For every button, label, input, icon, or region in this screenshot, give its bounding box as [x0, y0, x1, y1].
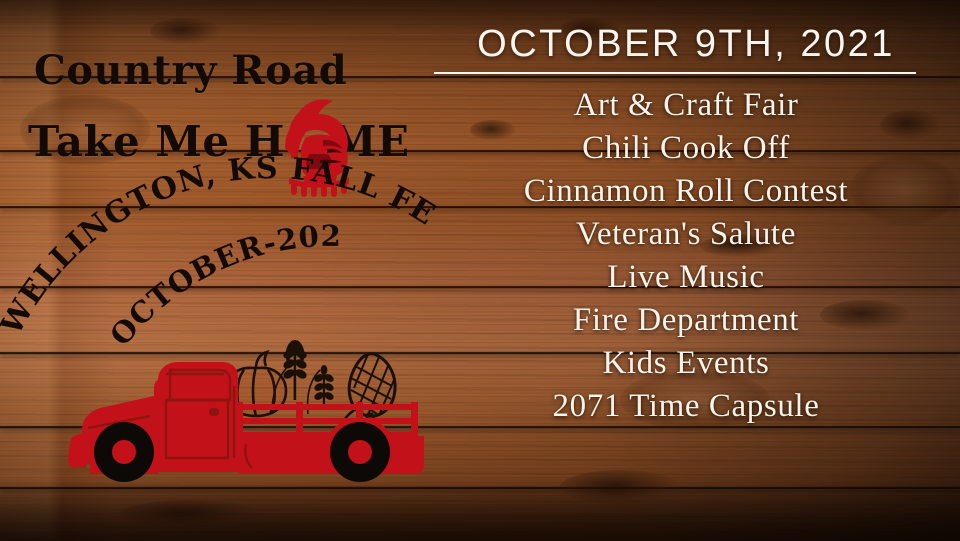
festival-logo: Country Road Take Me H ME: [0, 0, 470, 541]
details-panel: OCTOBER 9TH, 2021 Art & Craft Fair Chili…: [430, 0, 950, 541]
headline-underline: [434, 72, 916, 74]
logo-tagline-line1: Country Road: [34, 47, 347, 94]
list-item: Art & Craft Fair: [430, 84, 942, 127]
event-list: Art & Craft Fair Chili Cook Off Cinnamon…: [430, 84, 942, 428]
event-poster: Country Road Take Me H ME: [0, 0, 960, 541]
list-item: Chili Cook Off: [430, 127, 942, 170]
list-item: Cinnamon Roll Contest: [430, 170, 942, 213]
list-item: Fire Department: [430, 299, 942, 342]
event-date-headline: OCTOBER 9TH, 2021: [430, 23, 942, 76]
list-item: Veteran's Salute: [430, 213, 942, 256]
list-item: Kids Events: [430, 342, 942, 385]
list-item: Live Music: [430, 256, 942, 299]
wheat-stalk-icon-2: [313, 365, 335, 408]
vintage-pickup-truck-icon: [58, 296, 448, 496]
list-item: 2071 Time Capsule: [430, 385, 942, 428]
